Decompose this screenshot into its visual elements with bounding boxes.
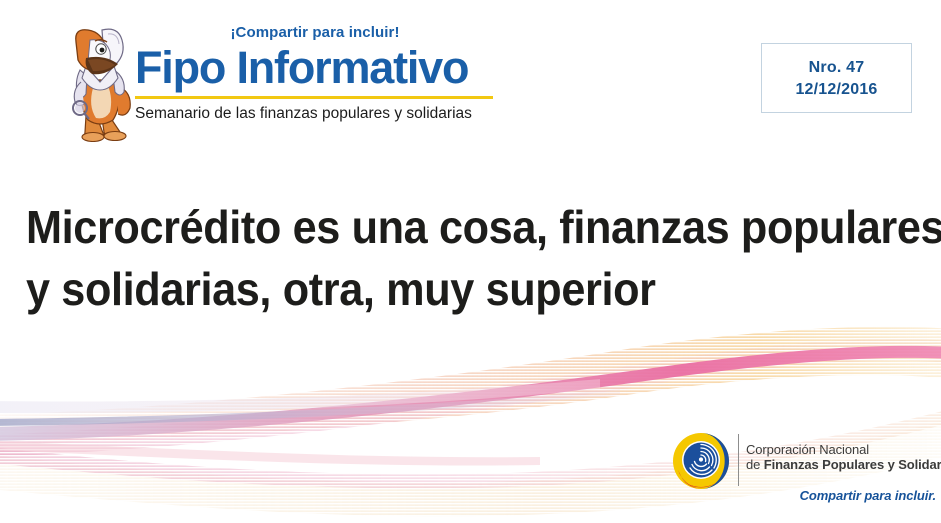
- page-title: Microcrédito es una cosa, finanzas popul…: [26, 196, 863, 320]
- masthead-title: Fipo Informativo: [135, 42, 495, 94]
- headline-line-1: Microcrédito es una cosa, finanzas popul…: [26, 196, 863, 258]
- masthead-tagline: ¡Compartir para incluir!: [135, 24, 495, 41]
- issue-date: 12/12/2016: [795, 80, 877, 99]
- issue-badge: Nro. 47 12/12/2016: [761, 43, 912, 113]
- org-name-line-2: de Finanzas Populares y Solidarias: [746, 457, 936, 473]
- conafips-emblem-icon: [672, 432, 730, 490]
- logo-text-block: Corporación Nacional de Finanzas Popular…: [746, 442, 936, 473]
- headline-line-2: y solidarias, otra, muy superior: [26, 258, 863, 320]
- org-name-line-1: Corporación Nacional: [746, 442, 936, 457]
- org-name-prefix: de: [746, 457, 764, 472]
- footer-logo: Corporación Nacional de Finanzas Popular…: [672, 430, 934, 515]
- logo-divider: [738, 434, 739, 486]
- gold-divider: [135, 96, 493, 99]
- issue-number: Nro. 47: [809, 58, 865, 77]
- footer-slogan: Compartir para incluir.: [746, 488, 936, 503]
- fox-mascot-icon: [60, 20, 136, 142]
- brand-block: ¡Compartir para incluir! Fipo Informativ…: [135, 24, 495, 124]
- masthead: ¡Compartir para incluir! Fipo Informativ…: [0, 0, 941, 150]
- masthead-subtitle: Semanario de las finanzas populares y so…: [135, 103, 495, 124]
- org-name-bold: Finanzas Populares y Solidarias: [764, 457, 941, 472]
